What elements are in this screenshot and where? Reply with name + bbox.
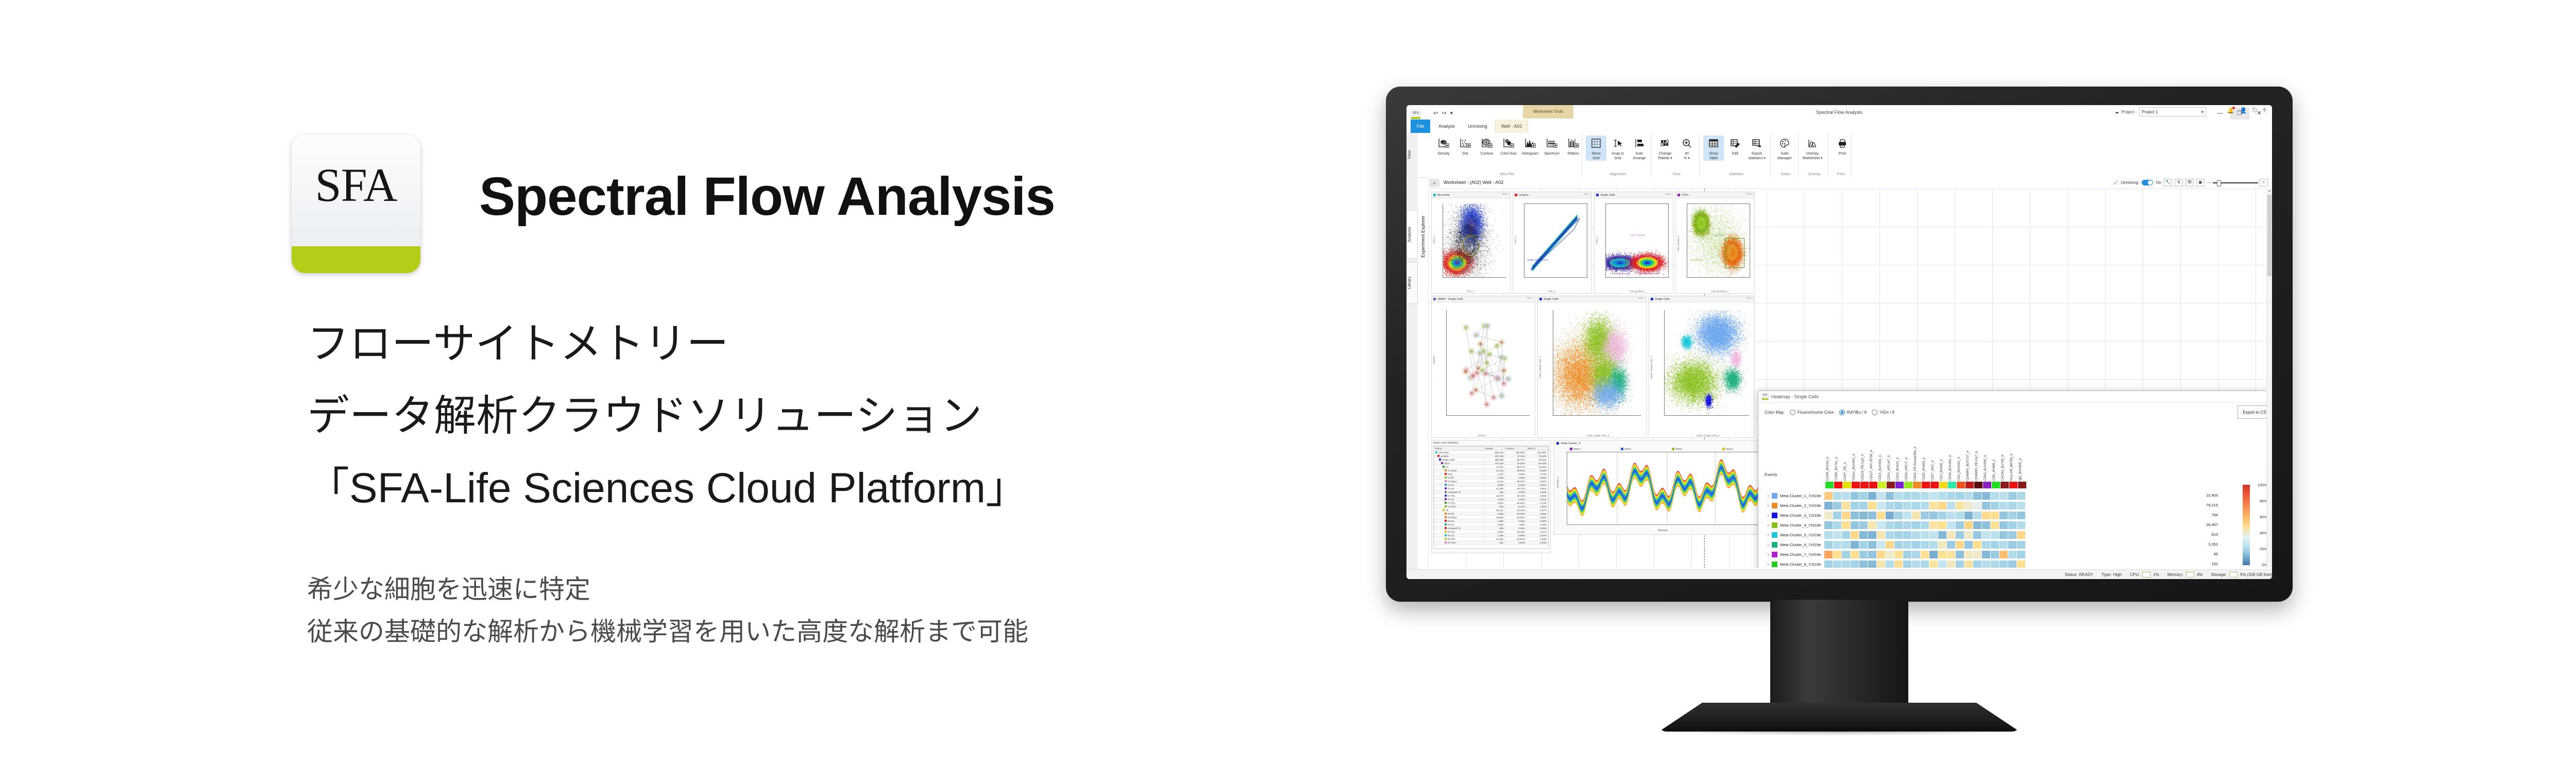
heatmap-cell [1912, 492, 1920, 500]
table-row[interactable]: Lymphs407,13670.18%70.18% [1434, 454, 1548, 458]
ribbon-button-show-grid[interactable]: ShowGrid [1586, 135, 1606, 161]
ribbon-button-spectrum[interactable]: Spectrum [1541, 135, 1562, 157]
heatmap-cell [1903, 492, 1911, 500]
heatmap-cell [1999, 561, 2008, 568]
scroll-up-icon[interactable]: ▲ [2267, 189, 2272, 194]
heatmap-cell [1903, 561, 1911, 568]
ribbon-button-dot[interactable]: Dot [1455, 135, 1476, 157]
unmixing-toggle[interactable] [2142, 180, 2153, 185]
heatmap-grid: CCR4_BV510_ACCR6_BV711_ACCR7_PE_ACD11c_B… [1765, 423, 2272, 568]
heatmap-cell [1964, 512, 1973, 519]
heatmap-cell-row [1824, 551, 2025, 558]
gate-color-swatch [1443, 509, 1445, 511]
heatmap-row[interactable]: ›Meta Cluster_4_7c519e [1765, 520, 2025, 530]
plot-panel[interactable]: Single CellsWELLUMAP_Single Cells_XUMAP_… [1649, 296, 1755, 438]
notification-dot [2232, 107, 2235, 109]
heatmap-cell [1929, 531, 1938, 539]
heatmap-cell [1964, 521, 1973, 529]
heatmap-cell [1973, 521, 1981, 529]
ribbon-group-label: Statistics [1702, 173, 1770, 176]
expand-chevron-icon[interactable]: › [1765, 523, 1772, 528]
compensation-icon[interactable]: ⇅ [2175, 179, 2183, 186]
gate-name: T8 Th1 [1448, 531, 1455, 533]
heatmap-cell [1859, 531, 1868, 539]
ribbon-tab-bar[interactable]: FileAnalyzeUnmixingWell - A02 [1406, 120, 2272, 133]
heatmap-column-label: CXCR2_BV785_A [2001, 454, 2005, 481]
cluster-color-swatch [1772, 552, 1777, 557]
ribbon-button-label: Color Axis [1498, 152, 1519, 157]
ribbon-button-overlay-worksheet[interactable]: OverlayWorksheet ▾ [1802, 135, 1823, 161]
heatmap-cell [1956, 531, 1964, 539]
table-row[interactable]: T4 Th25,50365.52%0.73% [1434, 501, 1548, 505]
worksheet-tools[interactable]: 📈 Unmixing: On 🔧 ⇅ 👁 ▣ — [2113, 179, 2268, 186]
plot-well-label: WELL [1584, 193, 1590, 195]
ribbon-group-statistics: ShowTableEditExportStatistics ▾Statistic… [1702, 133, 1771, 177]
table-row[interactable]: T470,21155.47%44.25% [1434, 465, 1548, 469]
statistics-events-cell: 580,146 [1484, 451, 1504, 454]
laser-chip: 488nm [1672, 448, 1683, 450]
table-row[interactable]: T8 LR1,4295.68%0.27% [1434, 534, 1548, 537]
chevron-down-icon: ▾ [2201, 110, 2204, 114]
heatmap-cell-row [1824, 531, 2025, 539]
heatmap-cell [2017, 541, 2025, 549]
monitor-stand-neck [1770, 600, 1908, 714]
statistics-percent-cell: 26.49% [1505, 530, 1527, 534]
heatmap-column-header: CCR7_PE_A [1843, 423, 1851, 481]
cpu-item: CPU:1% [2130, 572, 2159, 578]
heatmap-cell [1956, 521, 1964, 529]
tab-analyze[interactable]: Analyze [1433, 120, 1460, 133]
table-row[interactable]: T4 Th112,87618.44%2.46% [1434, 494, 1548, 498]
heatmap-cell [1973, 561, 1981, 568]
gate-rectangle[interactable] [1725, 238, 1744, 268]
expand-chevron-icon[interactable]: › [1765, 552, 1772, 557]
ribbon-group-label: Print [1831, 173, 1851, 176]
ribbon-button-show-table[interactable]: ShowTable [1703, 135, 1724, 161]
heatmap-cell [1903, 512, 1911, 519]
spectrum-laser-chips: 355nm405nm488nm561nm637nm [1570, 448, 1784, 450]
heatmap-row[interactable]: ›Meta Cluster_3_7c519e [1765, 511, 2025, 520]
statistics-body: All events580,146100.00%100.00%Lymphs407… [1434, 451, 1548, 545]
heatmap-dialog[interactable]: SFA Heatmap - Single Cells ✕ Color Map: … [1758, 391, 2272, 568]
gate-label: Monocytes 9.4% [1468, 234, 1485, 236]
statistics-total-cell: 3.91% [1527, 487, 1548, 490]
heatmap-cell [1877, 502, 1885, 510]
table-row[interactable]: T4 eff1,3661.96%0.69% [1434, 476, 1548, 480]
monitor-bezel: SFA ↩ ↪ ▾ Worksheet Tools Spectral Flow … [1386, 87, 2293, 602]
fluorochrome-swatch [1825, 482, 1834, 488]
heatmap-colorbar [2243, 485, 2250, 565]
heatmap-cell [1903, 502, 1911, 510]
left-vertical-tabs[interactable]: View Analysis Library [1406, 133, 1418, 579]
heatmap-cell [1964, 502, 1973, 510]
ribbon-button-contour[interactable]: Contour [1477, 135, 1497, 157]
monitor-shadow [1646, 726, 2032, 736]
vertical-tab-view[interactable]: View [1407, 135, 1417, 174]
fluorochrome-swatch [1913, 482, 1921, 488]
scrollbar-thumb[interactable] [2267, 195, 2272, 276]
heatmap-cell [1929, 502, 1938, 510]
table-row[interactable]: Treg1,4271.45%0.73% [1434, 472, 1548, 476]
table-row[interactable]: T8 em1,3905.49%0.56% [1434, 519, 1548, 523]
experiment-explorer-tab[interactable]: Experiment Explorer [1418, 182, 1428, 291]
zoom-in-button[interactable]: + [2260, 179, 2268, 186]
ribbon-button-label: AutoArrange [1629, 152, 1650, 161]
expand-chevron-icon[interactable]: › [1765, 542, 1772, 547]
table-icon [1703, 135, 1724, 151]
ribbon-button-label: Spectrum [1541, 152, 1562, 157]
export-table-icon [1747, 135, 1767, 151]
expand-chevron-icon[interactable]: › [1765, 513, 1772, 518]
heatmap-cell [1982, 521, 1990, 529]
ribbon-button-change-palette[interactable]: ChangePalette ▾ [1655, 135, 1675, 161]
heatmap-column-label: CD25_BV650_A [1922, 457, 1926, 481]
ribbon-button-auto-arrange[interactable]: AutoArrange [1629, 135, 1650, 161]
statistics-percent-cell: 23.44% [1505, 508, 1527, 512]
plot-panel[interactable]: Single CellsWELLCD3_BV605_ASSC_ACD3- 20.… [1594, 192, 1673, 294]
heatmap-cell [1886, 551, 1894, 558]
gate-name: T4 LR [1448, 498, 1454, 501]
table-row[interactable]: Activated T85592.20%0.09% [1434, 527, 1548, 530]
gate-name: Lymphs [1440, 455, 1449, 457]
heatmap-cell [1894, 541, 1903, 549]
colormap-radio-fluorochrome-color[interactable]: Fluorochrome Color [1790, 410, 1834, 415]
heatmap-cell [1964, 531, 1973, 539]
heatmap-cell [1824, 521, 1833, 529]
gate-color-swatch [1445, 469, 1447, 471]
colormap-option-label: RdYlBu / 8 [1847, 410, 1867, 415]
heatmap-cell [1859, 512, 1868, 519]
heatmap-row[interactable]: ›Meta Cluster_8_7c519e [1765, 559, 2025, 568]
vertical-tab-analysis[interactable]: Analysis [1407, 210, 1418, 259]
plot-panel[interactable]: LymphsWELLFSC_HFSC_ASingle Cells 98.07% [1513, 192, 1592, 294]
heatmap-cell [1938, 492, 1946, 500]
statistics-table[interactable]: NameEventsPercentTotal % All events580,1… [1433, 446, 1549, 549]
fluorochrome-swatch [1878, 482, 1886, 488]
gate-rectangle[interactable] [1612, 256, 1629, 274]
gate-color-swatch [1443, 466, 1445, 468]
ribbon-button-export-statistics[interactable]: ExportStatistics ▾ [1747, 135, 1767, 161]
heatmap-cell [1833, 531, 1841, 539]
ribbon-button-density[interactable]: Density [1433, 135, 1454, 157]
cluster-color-swatch [1772, 542, 1777, 548]
colormap-option-label: Fluorochrome Color [1798, 410, 1834, 415]
plot-panel[interactable]: CD3+WELLCD4_BUV615_ACD8_AF488_AT8 37.92%… [1675, 192, 1755, 294]
gate-palette-icon [1774, 135, 1795, 151]
project-dropdown[interactable]: Project 1 ▾ [2139, 107, 2206, 116]
expand-panel-button[interactable]: » [1429, 179, 1439, 187]
ribbon-button-snap-to-grid[interactable]: Snap toGrid [1607, 135, 1628, 161]
heatmap-cell [1947, 551, 1955, 558]
heatmap-colormap-controls[interactable]: Color Map: Fluorochrome ColorRdYlBu / 8Y… [1765, 406, 2272, 418]
eye-icon[interactable]: 👁 [2185, 179, 2194, 186]
plot-panel[interactable]: All eventsWELLFSC_ASSC_ALymphs 68.21%Mon… [1431, 192, 1511, 294]
heatmap-cell [1973, 531, 1981, 539]
plot-y-axis-label: SSC_A [1433, 236, 1435, 244]
table-row[interactable]: T8 Th214,20256.51%2.03% [1434, 537, 1548, 541]
table-row[interactable]: Activated T46383.00%0.02% [1434, 490, 1548, 494]
heatmap-cell [1912, 521, 1920, 529]
spectrum-panel[interactable]: Meta Cluster_3 355nm405nm488nm561nm637nm… [1554, 440, 1771, 535]
events-value: 610 [2189, 532, 2218, 537]
heatmap-cell [1982, 512, 1990, 519]
heatmap-cell [1868, 521, 1876, 529]
cluster-label: Meta Cluster_4_7c519e [1780, 523, 1824, 528]
zoom-out-button[interactable]: — [2207, 180, 2211, 185]
cluster-label: Meta Cluster_2_7c519e [1780, 503, 1824, 508]
plot-y-axis-label: UMAP_Single Cells_Y [1650, 356, 1653, 379]
heatmap-cell [1973, 541, 1981, 549]
plot-axes [1664, 310, 1749, 416]
plot-x-axis-label: FSC_H [1548, 290, 1556, 293]
ribbon-button-label: Ribbon [1563, 152, 1584, 157]
fluorochrome-swatch [2018, 482, 2026, 488]
plot-panel[interactable]: UMAP - Single CellsWELLUMAP1UMAP2 [1431, 296, 1535, 438]
gate-name: Activated T4 [1448, 491, 1461, 494]
wrench-icon[interactable]: 🔧 [2164, 179, 2172, 186]
heatmap-column-header: CD11c_BUV661_A [1852, 423, 1860, 481]
cluster-label: Meta Cluster_7_7c519e [1780, 552, 1824, 557]
app-logo-accent [1411, 117, 1420, 119]
heatmap-cell [1991, 541, 1999, 549]
statistics-total-cell: 4.07% [1527, 508, 1548, 512]
heatmap-cell [1886, 502, 1894, 510]
ribbon-button-ribbon[interactable]: Ribbon [1563, 135, 1584, 157]
heatmap-cell [1833, 512, 1841, 519]
table-row[interactable]: T4 cm4,8065.24%8.91% [1434, 483, 1548, 487]
status-value: READY [2079, 572, 2094, 577]
gate-color-swatch [1445, 487, 1447, 489]
ribbon-button-edit[interactable]: Edit [1725, 135, 1745, 157]
heatmap-cell [1851, 502, 1859, 510]
statistics-percent-cell: 3.00% [1505, 490, 1527, 494]
plot-panel[interactable]: Single CellsWELLt-SNE_Single Cells_Xt-SN… [1537, 296, 1647, 438]
unmixing-label: Unmixing: [2121, 180, 2140, 185]
help-icon[interactable]: ? [2263, 108, 2266, 114]
cluster-color-swatch [1772, 493, 1777, 499]
plot-color-swatch [1515, 194, 1517, 196]
gate-rectangle[interactable] [1638, 256, 1658, 274]
layers-icon[interactable]: ▣ [2196, 179, 2205, 186]
heatmap-cell [1947, 512, 1955, 519]
canvas-scrollbar[interactable]: ▲ [2266, 189, 2272, 568]
zoom-slider-track[interactable] [2213, 182, 2258, 183]
statistics-events-cell: 21,365 [1484, 487, 1504, 490]
gate-color-swatch [1445, 541, 1447, 544]
plot-title: UMAP - Single Cells [1437, 298, 1463, 301]
fluorochrome-swatch [1834, 482, 1842, 488]
heatmap-cell-row [1824, 502, 2025, 510]
statistics-events-cell: 648 [1484, 505, 1504, 508]
spectrum-icon [1541, 135, 1562, 151]
laser-chip: 355nm [1570, 448, 1581, 450]
heatmap-row[interactable]: ›Meta Cluster_1_7c519e [1765, 491, 2025, 501]
heatmap-row[interactable]: ›Meta Cluster_7_7c519e [1765, 550, 2025, 559]
radio-dot [1790, 410, 1795, 415]
colormap-radio-rdylbu-8[interactable]: RdYlBu / 8 [1839, 410, 1867, 415]
table-row[interactable]: T4 LR7,0063.94%1.91% [1434, 498, 1548, 501]
table-row[interactable]: T8 Th16,66026.49%1.27% [1434, 530, 1548, 534]
ribbon-group-label: Gates [1773, 173, 1798, 176]
heatmap-cell-row [1824, 541, 2025, 549]
contour-plot-icon [1477, 135, 1497, 151]
heatmap-row[interactable]: ›Meta Cluster_6_7c519e [1765, 540, 2025, 550]
gate-name: T4 eff [1448, 477, 1454, 479]
table-row[interactable]: T4 Th176488.17%1.09% [1434, 505, 1548, 508]
heatmap-column-header: CD4_BUV615_A [1957, 423, 1965, 481]
heatmap-cell [1886, 492, 1894, 500]
gate-color-swatch [1445, 480, 1447, 482]
gate-name-cell: T8 eff [1434, 512, 1485, 516]
plot-y-axis-label: CD8_AF488_A [1677, 236, 1680, 251]
ribbon-button-color-axis[interactable]: Color Axis [1498, 135, 1519, 157]
heatmap-cell [2017, 512, 2025, 519]
user-account-icon[interactable]: 👤 [2240, 107, 2247, 114]
heatmap-cell [1859, 561, 1868, 568]
status-item: Status:READY [2065, 572, 2093, 577]
colormap-radio-ylgn-9[interactable]: YlGn / 9 [1872, 410, 1894, 415]
table-row[interactable]: T8 eff6,36629.49%4.80% [1434, 512, 1548, 516]
statistics-total-cell: 0.73% [1527, 472, 1548, 476]
plot-axes [1553, 310, 1640, 416]
heatmap-cell [1999, 502, 2008, 510]
table-row[interactable]: T8 Naive16,55365.66%3.86% [1434, 516, 1548, 519]
heatmap-cell [1833, 492, 1841, 500]
statistics-events-cell: 5,503 [1484, 501, 1504, 505]
logout-icon[interactable]: ⎋ [2252, 107, 2257, 114]
heatmap-cell [1947, 541, 1955, 549]
table-row[interactable]: T8 Th174611.84%0.04% [1434, 541, 1548, 545]
plot-body: UMAP_Single Cells_XUMAP_Single Cells_Y [1649, 302, 1754, 437]
gate-name-cell: T8 LR [1434, 534, 1485, 537]
heatmap-cell [1929, 541, 1938, 549]
tab-unmixing[interactable]: Unmixing [1463, 120, 1492, 133]
gate-name-cell: T8 Th17 [1434, 541, 1485, 545]
expand-chevron-icon[interactable]: › [1765, 494, 1772, 498]
caption-line-1: 希少な細胞を迅速に特定 [307, 569, 590, 606]
ribbon-button-label: OverlayWorksheet ▾ [1802, 152, 1823, 161]
table-row[interactable]: All events580,146100.00%100.00% [1434, 451, 1548, 454]
heatmap-cell [1956, 502, 1964, 510]
tab-file[interactable]: File [1411, 120, 1430, 133]
heatmap-cell [1824, 551, 1833, 558]
gate-name-cell: T8 em [1434, 519, 1485, 523]
fluorochrome-swatch [1922, 482, 1930, 488]
ribbon-button-gate-manager[interactable]: GateManager [1774, 135, 1795, 161]
ribbon-button-histogram[interactable]: Histogram [1520, 135, 1540, 157]
statistics-events-cell: 1,427 [1484, 472, 1504, 476]
heatmap-cell [1929, 561, 1938, 568]
heatmap-row[interactable]: ›Meta Cluster_2_7c519e [1765, 501, 2025, 511]
heatmap-cell [1886, 531, 1894, 539]
plot-x-axis-label: FSC_A [1467, 290, 1475, 293]
zoom-slider[interactable]: — + [2207, 180, 2268, 185]
project-selector[interactable]: ☁ Project : Project 1 ▾ [2115, 107, 2206, 116]
events-value: 79,219 [2189, 503, 2218, 507]
statistics-header-row: NameEventsPercentTotal % [1434, 447, 1548, 451]
gate-rectangle[interactable] [1696, 216, 1709, 234]
statistics-total-cell: 9.52% [1527, 480, 1548, 483]
gate-name: T8 Th2 [1448, 538, 1455, 540]
heatmap-cell-row [1824, 561, 2025, 568]
heatmap-cell [1877, 521, 1885, 529]
tab-well-a02[interactable]: Well - A02 [1495, 120, 1528, 133]
heatmap-column-label: CD56_BUV395_A [1984, 455, 1987, 481]
density-plot-icon [1433, 135, 1454, 151]
heatmap-column-header: CD16_APC-H7_A [1887, 423, 1895, 481]
heatmap-column-header: CD14_BUV563_A [1878, 423, 1886, 481]
laser-chip-label: 561nm [1726, 448, 1733, 450]
heatmap-cell [1921, 531, 1929, 539]
statistics-percent-cell: 76.20% [1505, 462, 1527, 465]
heatmap-column-label: CD27_APC_A [1931, 460, 1935, 481]
notification-bell-icon[interactable]: 🔔 [2227, 107, 2234, 114]
ribbon-button-print[interactable]: Print [1832, 135, 1853, 157]
statistics-events-cell: 4,806 [1484, 483, 1504, 487]
statistics-total-cell: 0.02% [1527, 490, 1548, 494]
heatmap-cell [1964, 541, 1973, 549]
cpu-value: 1% [2153, 572, 2159, 577]
plot-color-swatch [1596, 194, 1599, 196]
table-row[interactable]: Single Cells399,36898.07%68.84% [1434, 458, 1548, 462]
heatmap-cell [1851, 561, 1859, 568]
gate-color-swatch [1445, 505, 1447, 507]
plot-body: FSC_HFSC_ASingle Cells 98.07% [1513, 198, 1591, 293]
statistics-events-cell: 1,390 [1484, 519, 1504, 523]
plot-x-axis-label: CD4_BUV615_A [1711, 290, 1728, 293]
expand-chevron-icon[interactable]: › [1765, 533, 1772, 537]
gate-name-cell: T8 Th1 [1434, 530, 1485, 534]
heatmap-cell [1868, 512, 1876, 519]
heatmap-column-header: CD8_AF488_A [1992, 423, 2000, 481]
expand-chevron-icon[interactable]: › [1765, 562, 1772, 567]
heatmap-title-bar: SFA Heatmap - Single Cells ✕ [1758, 391, 2272, 403]
plot-title: Single Cells [1544, 298, 1558, 301]
worksheet-canvas[interactable]: All eventsWELLFSC_ASSC_ALymphs 68.21%Mon… [1428, 189, 2272, 568]
expand-chevron-icon[interactable]: › [1765, 503, 1772, 508]
header-icon-group[interactable]: 🔔 👤 ⎋ ? [2227, 107, 2266, 114]
table-row[interactable]: T4 Naive5,12265.07%9.52% [1434, 480, 1548, 483]
gate-name-cell: T8 Naive [1434, 516, 1485, 519]
ribbon-button-label: ShowTable [1703, 152, 1724, 161]
gate-label: CD3+ 76.20% [1631, 234, 1645, 236]
type-value: High [2113, 572, 2122, 577]
table-row[interactable]: T825,13123.44%4.07% [1434, 508, 1548, 512]
ribbon-toolbar[interactable]: DensityDotContourColor AxisHistogramSpec… [1406, 133, 2272, 178]
table-row[interactable]: T8 cm1,9657.86%0.46% [1434, 523, 1548, 527]
heatmap-cell [1877, 561, 1885, 568]
vertical-tab-library[interactable]: Library [1407, 262, 1418, 304]
heatmap-cell [1921, 521, 1929, 529]
ribbon-button-label: Dot [1455, 152, 1476, 157]
plot-body: FSC_ASSC_ALymphs 68.21%Monocytes 9.4% [1432, 198, 1510, 293]
table-row[interactable]: CD3+187,14576.20%64.46% [1434, 462, 1548, 465]
gate-name: T4 cm [1448, 484, 1454, 486]
subtitle-line-2: データ解析クラウドソリューション [307, 381, 982, 443]
table-row[interactable]: T4 em21,36528.77%3.91% [1434, 487, 1548, 490]
statistics-events-cell: 559 [1484, 527, 1504, 530]
plot-axes [1524, 203, 1587, 278]
heatmap-cell [1938, 551, 1946, 558]
table-row[interactable]: T4 naive21,41038.91%5.84% [1434, 469, 1548, 472]
gate-label: Single Cells 98.07% [1527, 259, 1548, 261]
heatmap-cell [1886, 521, 1894, 529]
ribbon-button-40[interactable]: 40% ▾ [1676, 135, 1697, 161]
gates-statistics-panel[interactable]: Gates and Statistics NameEventsPercentTo… [1431, 440, 1551, 553]
heatmap-cell [1851, 512, 1859, 519]
ribbon-button-label: ExportStatistics ▾ [1747, 152, 1767, 161]
heatmap-row[interactable]: ›Meta Cluster_5_7c519e [1765, 530, 2025, 540]
